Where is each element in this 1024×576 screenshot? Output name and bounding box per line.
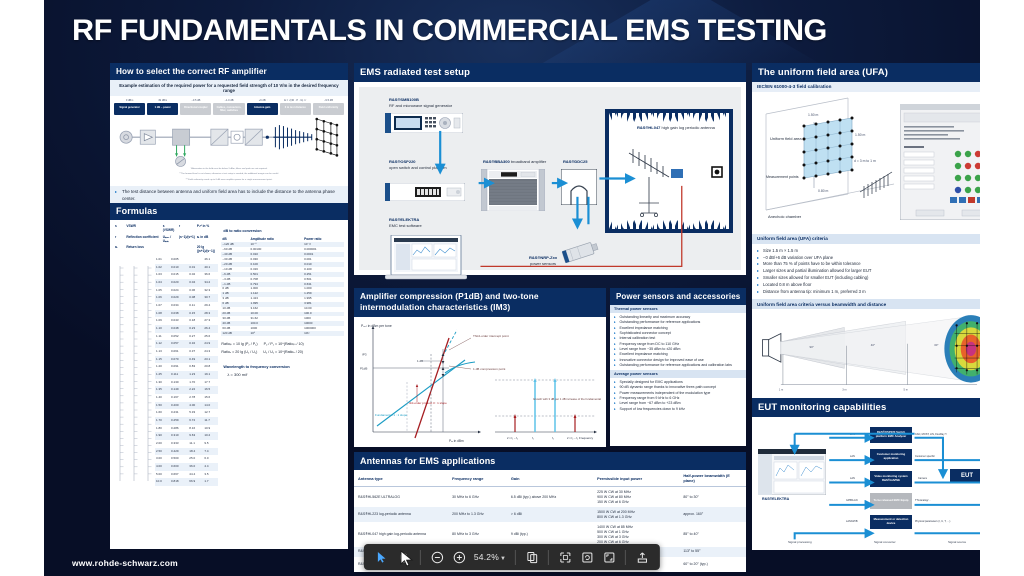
table-cell: 0.32	[188, 340, 203, 348]
table-cell: 2.00	[155, 440, 170, 448]
table-cell: 0.052	[170, 333, 188, 341]
table-cell: 0.015	[170, 272, 188, 280]
beam-distance: 1 m	[779, 388, 784, 392]
table-row: 1.090.0430.1827.3	[155, 317, 218, 325]
chain-value: 49 dBm	[147, 99, 178, 102]
chain-tag: Directional coupler	[180, 103, 211, 115]
col-formula: (s−1)/(s+1)	[178, 234, 196, 244]
table-cell: 0.130	[170, 379, 188, 387]
beam-distance: 5 m	[904, 388, 909, 392]
table-cell: 19.1	[203, 371, 218, 379]
table-row: 1.010.00546.1	[155, 256, 218, 264]
table-cell: 0.08	[188, 294, 203, 302]
table-cell: 0.091	[170, 363, 188, 371]
legend-symbol: aᵣ	[114, 244, 125, 254]
panel-ufa: The uniform field area (UFA) IEC/EN 6100…	[752, 63, 980, 390]
table-cell: 0.11	[188, 302, 203, 310]
table-cell	[188, 256, 203, 264]
table-cell: 1.7	[203, 478, 218, 486]
table-cell: 1.15	[155, 356, 170, 364]
freq-tick: 2 × f₁ − f₂	[507, 436, 518, 440]
table-cell: 9.63	[188, 432, 203, 440]
table-header-row: Antenna typeFrequency rangeGainPermissib…	[354, 470, 746, 487]
table-cell: 120 dB	[221, 331, 249, 336]
freq-tick: f₂	[552, 436, 554, 440]
eut-diagram: R&S®ELEKTRA R&S®OSP220 Switch platform E…	[752, 417, 980, 550]
table-cell: 6.5 dBi (typ.) above 200 MHz	[507, 487, 593, 507]
table-row: 1.250.1111.2319.1	[155, 371, 218, 379]
chart-label-p1db: 1 dB compression point	[473, 367, 505, 371]
ems-canvas: R&S®SMB100B RF and microwave signal gene…	[354, 82, 746, 275]
table-cell: 3.5	[203, 471, 218, 479]
table-cell: 36.6	[203, 272, 218, 280]
table-cell: 1.07	[155, 302, 170, 310]
col-formula: 20 lg ((s+1)/(s−1))	[196, 244, 219, 254]
footer-url[interactable]: www.rohde-schwarz.com	[72, 558, 178, 568]
list-item: Larger sizes and partial illumination al…	[757, 268, 980, 275]
table-cell: 1.04	[155, 279, 170, 287]
table-row: 10.00.81866.91.7	[155, 478, 218, 486]
ufa-dim: 1.50 m	[855, 133, 866, 137]
table-cell: 1.90	[155, 432, 170, 440]
ufa-subtitle: IEC/EN 61000-4-3 field calibration	[752, 82, 980, 92]
zoom-in-button[interactable]	[449, 547, 469, 567]
table-cell: 0.333	[170, 440, 188, 448]
table-cell: 80° to 30°	[679, 487, 746, 507]
table-cell: R&S®HL223 log-periodic antenna	[354, 507, 448, 522]
table-cell: 23.1	[203, 356, 218, 364]
col-formula: Uₘₐₓ / Uₘᵢₙ	[162, 234, 178, 244]
chain-value: −0.5 dB	[180, 99, 211, 102]
col-header: s (VSWR)	[162, 223, 178, 233]
eut-flow-arrows	[752, 417, 980, 550]
table-cell: 1.80	[155, 425, 170, 433]
beam-angle: 40°	[871, 343, 875, 347]
formulas-body: s VSWR s (VSWR) r Pᵣᵉᶠ in % r Reflection…	[110, 220, 348, 549]
table-cell: 5.00	[155, 471, 170, 479]
column-header: Antenna type	[354, 470, 448, 487]
select-tool-button[interactable]	[372, 547, 392, 567]
table-cell: approx. 160°	[679, 507, 746, 522]
table-cell: 10⁶	[249, 331, 303, 336]
table-cell: 200 MHz to 1.3 GHz	[448, 507, 507, 522]
table-row: 1.100.0480.2326.4	[155, 325, 218, 333]
table-cell: 3.00	[155, 455, 170, 463]
table-cell: 11.7	[203, 417, 218, 425]
compression-chart-svg: Pₒᵤₜ in dBm per tone IP3 P1dB	[357, 320, 603, 444]
viewer-gutter-left	[0, 0, 44, 576]
chevron-down-icon: ▼	[500, 556, 506, 562]
table-cell: 1.70	[155, 417, 170, 425]
table-row: 1.120.0570.3224.9	[155, 340, 218, 348]
table-row: 4.000.60036.04.4	[155, 463, 218, 471]
table-cell: 1.02	[155, 264, 170, 272]
panel-title-ufa: The uniform field area (UFA)	[752, 63, 980, 82]
chain-tag: 3 m test distance	[280, 103, 311, 115]
table-cell: 1.12	[155, 340, 170, 348]
chain-value: 0 dBm	[114, 99, 145, 102]
chart-label-growth: Growth with 3 dB per 1 dB increase of th…	[533, 397, 601, 401]
table-cell: 17.7	[203, 379, 218, 387]
amplifier-note: Example estimation of the required power…	[110, 80, 348, 96]
rotate-icon	[581, 551, 594, 564]
chain-tag: Field uniformity	[313, 103, 344, 115]
chain-tag: Signal generator	[114, 103, 145, 115]
ufa-beamwidth-diagram: 1 m 3 m 5 m 90° 40° 30°	[752, 309, 980, 403]
table-cell: 4.4	[203, 463, 218, 471]
panel-formulas: Formulas s VSWR s (VSWR) r Pᵣᵉᶠ in % r	[110, 203, 348, 548]
table-cell: 0.057	[170, 340, 188, 348]
table-row: 1.020.0100.0140.1	[155, 264, 218, 272]
chart-label-1db: 1 dB	[417, 359, 423, 363]
toolbar-divider	[420, 550, 421, 565]
table-cell: 1.30	[155, 379, 170, 387]
table-cell: 60° to 20° (typ.)	[679, 557, 746, 572]
panel-title-antennas: Antennas for EMS applications	[354, 452, 746, 470]
chart-x-axis-label: Pᵢₙ in dBm	[449, 439, 464, 443]
table-cell: 10.9	[203, 425, 218, 433]
table-cell: 0.49	[188, 356, 203, 364]
wavelength-formula: λ = 300 m/f	[227, 372, 344, 377]
zoom-level-value: 54.2%	[474, 552, 499, 562]
ufa-criteria-body: Size 1.5 m × 1.5 m−0 dB/+6 dB variation …	[752, 244, 980, 300]
subhead-thermal: Thermal power sensors	[610, 305, 746, 313]
db-table-title: dB to ratio conversion	[223, 229, 344, 233]
table-cell: 0.061	[170, 348, 188, 356]
panel-title-amplifier: How to select the correct RF amplifier	[110, 63, 348, 80]
table-cell: 10.0	[155, 478, 170, 486]
table-cell: 25.6	[203, 333, 218, 341]
table-cell: 0.070	[170, 356, 188, 364]
chain-tag-row: Signal generator 1 dB – power Directiona…	[114, 103, 344, 115]
ufa-dim: d = 3 m to 1 m	[854, 159, 876, 163]
table-cell: 1.06	[155, 294, 170, 302]
table-cell: 0.167	[170, 394, 188, 402]
vswr-column: s VSWR s (VSWR) r Pᵣᵉᶠ in % r Reflection…	[114, 223, 218, 546]
legend-symbol: r	[114, 234, 125, 244]
print-button[interactable]	[632, 547, 652, 567]
db-conversion-table: dBAmplitude ratioPower ratio−120 dB10⁻⁶1…	[221, 236, 344, 336]
table-cell: 8.16	[188, 425, 203, 433]
table-row: 5.000.66744.43.5	[155, 471, 218, 479]
hand-icon	[398, 551, 410, 563]
beam-distance: 3 m	[842, 388, 847, 392]
ufa-label: Anechoic chamber	[768, 214, 802, 219]
panel-eut-monitoring: EUT monitoring capabilities R&S®ELEKTRA …	[752, 398, 980, 548]
table-row: 1.150.0700.4923.1	[155, 356, 218, 364]
toolbar-divider	[548, 550, 549, 565]
vswr-legend-table: s VSWR s (VSWR) r Pᵣᵉᶠ in % r Reflection…	[114, 223, 218, 254]
table-cell: 0.005	[170, 256, 188, 264]
table-cell: 0.01	[188, 264, 203, 272]
table-cell: 11.1	[188, 440, 203, 448]
toolbar-divider	[515, 550, 516, 565]
spacer	[162, 244, 178, 254]
table-cell: 10.2	[203, 432, 218, 440]
table-cell: 0.27	[188, 333, 203, 341]
table-row: 1.500.2004.0014.0	[155, 402, 218, 410]
amplifier-chain-diagram: 0 dBm 49 dBm −0.5 dB −1.0 dB +6 dB E = √…	[110, 96, 348, 186]
table-row: 1.900.3109.6310.2	[155, 432, 218, 440]
table-cell: 6.72	[188, 417, 203, 425]
table-row: 1.800.2868.1610.9	[155, 425, 218, 433]
list-item: The test distance between antenna and un…	[115, 189, 343, 203]
table-cell: 1.60	[155, 409, 170, 417]
ufa-diagram: Uniform field area Measurement points An…	[752, 92, 980, 234]
chart-label-3rd-order: 3rd-order product 3 : 1 slope	[409, 401, 447, 405]
chain-value: +6 dB	[247, 99, 278, 102]
table-cell: 1.11	[155, 333, 170, 341]
page-title: RF FUNDAMENTALS IN COMMERCIAL EMS TESTIN…	[72, 14, 827, 48]
table-row: 2.500.42918.47.4	[155, 448, 218, 456]
table-cell: 0.010	[170, 264, 188, 272]
ratio-formula: P₂ / P₁ = 10^(Ratioₚᵢ / 10)	[264, 341, 304, 349]
pdf-viewer: RF FUNDAMENTALS IN COMMERCIAL EMS TESTIN…	[0, 0, 1024, 576]
table-cell: 0.02	[188, 272, 203, 280]
list-item: Outstanding performance for reference ap…	[614, 363, 742, 368]
chain-value: −9.5 dB	[313, 99, 344, 102]
table-cell: 2.22	[188, 386, 203, 394]
table-cell: 28.3	[203, 310, 218, 318]
poster-page[interactable]: RF FUNDAMENTALS IN COMMERCIAL EMS TESTIN…	[44, 0, 980, 576]
table-cell: 24.3	[203, 348, 218, 356]
expand-icon	[603, 551, 616, 564]
table-cell: 12.7	[203, 409, 218, 417]
chart-x-axis-label-2: Frequency	[579, 436, 594, 440]
table-cell: 15.6	[203, 394, 218, 402]
ufa-3d-sketch: Uniform field area Measurement points An…	[752, 92, 902, 234]
table-cell: 0.06	[188, 287, 203, 295]
table-cell: 1500 W CW at 200 MHz800 W CW at 1.3 GHz	[593, 507, 679, 522]
zoom-out-button[interactable]	[427, 547, 447, 567]
table-cell: 25.0	[188, 455, 203, 463]
table-cell: 0.667	[170, 471, 188, 479]
table-cell: 1.09	[155, 317, 170, 325]
table-cell: 1.01	[155, 256, 170, 264]
table-cell: 85° to 40°	[679, 522, 746, 547]
table-cell: 0.024	[170, 287, 188, 295]
fit-page-button[interactable]	[555, 547, 575, 567]
table-cell: 1.08	[155, 310, 170, 318]
table-cell: 2.78	[188, 394, 203, 402]
table-row: 1.040.0200.0434.2	[155, 279, 218, 287]
average-sensor-list-body: Specially designed for EMC applications9…	[610, 378, 746, 414]
table-cell: 66.9	[188, 478, 203, 486]
column-header: Gain	[507, 470, 593, 487]
panel-ems-setup: EMS radiated test setup R&S®SMB100B RF a…	[354, 63, 746, 273]
panel-title-ems: EMS radiated test setup	[354, 63, 746, 82]
ems-diagram: R&S®SMB100B RF and microwave signal gene…	[359, 87, 741, 270]
panel-antennas: Antennas for EMS applications Antenna ty…	[354, 452, 746, 548]
table-cell: 6.0	[203, 455, 218, 463]
table-cell: 0.500	[170, 455, 188, 463]
table-cell: 1.10	[155, 325, 170, 333]
chart-label-fundamental: Fundamental 1 : 1 slope	[375, 413, 408, 417]
table-cell: 0.200	[170, 402, 188, 410]
beamwidth-svg: 1 m 3 m 5 m 90° 40° 30°	[752, 309, 980, 403]
zoom-level-display[interactable]: 54.2%▼	[471, 552, 509, 562]
average-sensor-list: Specially designed for EMC applications9…	[614, 380, 742, 412]
table-cell: 4.00	[188, 402, 203, 410]
panel-title-power-sensors: Power sensors and accessories	[610, 288, 746, 305]
db-conversion-column: dB to ratio conversion dBAmplitude ratio…	[221, 223, 344, 546]
column-header: Half-power beamwidth (E plane)	[679, 470, 746, 487]
table-cell: 14.0	[203, 402, 218, 410]
ufa-dim: 1.50 m	[808, 113, 819, 117]
table-cell: 0.149	[170, 386, 188, 394]
ufa-beam-title: Uniform field area criteria versus beamw…	[752, 299, 980, 309]
table-cell: > 6 dBi	[507, 507, 593, 522]
table-row: 2.000.33311.19.5	[155, 440, 218, 448]
ufa-criteria-list: Size 1.5 m × 1.5 m−0 dB/+6 dB variation …	[757, 248, 980, 296]
table-row: 1.060.0290.0830.7	[155, 294, 218, 302]
cursor-icon	[376, 551, 388, 563]
list-item: Located 0.8 m above floor	[757, 282, 980, 289]
panel-title-eut: EUT monitoring capabilities	[752, 398, 980, 417]
table-cell: 46.1	[203, 256, 218, 264]
col-header: Pᵣᵉᶠ in %	[196, 223, 219, 233]
vswr-nomograph-and-table: 1.010.00546.11.020.0100.0140.11.030.0150…	[114, 256, 218, 486]
table-cell: 0.038	[170, 310, 188, 318]
legend-desc: VSWR	[125, 223, 161, 233]
print-icon	[636, 551, 649, 564]
rotate-button[interactable]	[577, 547, 597, 567]
table-row: 1.600.2315.3312.7	[155, 409, 218, 417]
table-cell: 0.429	[170, 448, 188, 456]
wavelength-title: Wavelength to frequency conversion	[223, 365, 344, 369]
table-cell: 29.4	[203, 302, 218, 310]
list-item: −0 dB/+6 dB variation over UFA plane	[757, 255, 980, 262]
panel-power-sensors: Power sensors and accessories Thermal po…	[610, 288, 746, 446]
table-cell: 0.83	[188, 363, 203, 371]
chain-value: −1.0 dB	[213, 99, 244, 102]
vswr-nomograph	[114, 256, 154, 486]
table-cell: 1.25	[155, 371, 170, 379]
table-cell: 30.7	[203, 294, 218, 302]
ufa-label: Measurement points	[766, 175, 799, 179]
viewer-gutter-right	[980, 0, 1024, 576]
chart-y-axis-label: Pₒᵤₜ in dBm per tone	[361, 324, 392, 328]
page-view-button[interactable]	[522, 547, 542, 567]
table-cell: 0.04	[188, 279, 203, 287]
list-item: Support of low frequencies down to 9 kHz	[614, 407, 742, 412]
beam-angle: 90°	[810, 345, 814, 349]
list-item: Smaller sizes allowed for smaller EUT (i…	[757, 275, 980, 282]
chart-tick-ip3: IP3	[362, 352, 367, 356]
pdf-toolbar[interactable]: 54.2%▼	[364, 544, 660, 570]
compression-chart: Pₒᵤₜ in dBm per tone IP3 P1dB	[354, 317, 606, 447]
chain-value-row: 0 dBm 49 dBm −0.5 dB −1.0 dB +6 dB E = √…	[114, 99, 344, 102]
table-cell: 36.0	[188, 463, 203, 471]
table-row: R&S®HL223 log-periodic antenna200 MHz to…	[354, 507, 746, 522]
table-row: 1.350.1492.2216.5	[155, 386, 218, 394]
legend-desc: Return loss	[125, 244, 161, 254]
ufa-label: Uniform field area	[770, 136, 802, 141]
ratio-formula: Ratioₚᵢ = 10 lg (P₂ / P₁)	[221, 341, 257, 349]
panel-title-compression: Amplifier compression (P1dB) and two-ton…	[354, 288, 606, 317]
table-cell: 0.259	[170, 417, 188, 425]
table-row: 1.700.2596.7211.7	[155, 417, 218, 425]
list-item: Size 1.5 m × 1.5 m	[757, 248, 980, 255]
table-cell: 1.23	[188, 371, 203, 379]
table-cell: 26.4	[203, 325, 218, 333]
hand-tool-button[interactable]	[394, 547, 414, 567]
freq-tick: f₁	[532, 436, 534, 440]
panel-compression-chart: Amplifier compression (P1dB) and two-ton…	[354, 288, 606, 446]
table-row: 1.110.0520.2725.6	[155, 333, 218, 341]
table-cell: 9.5	[203, 440, 218, 448]
chart-label-ip3: Third-order intercept point	[473, 334, 509, 338]
table-cell: 1.70	[188, 379, 203, 387]
table-cell: 0.111	[170, 371, 188, 379]
spacer	[178, 244, 196, 254]
toolbar-divider	[625, 550, 626, 565]
table-cell: 0.37	[188, 348, 203, 356]
fullscreen-button[interactable]	[599, 547, 619, 567]
table-cell: 20.8	[203, 363, 218, 371]
table-row: 3.000.50025.06.0	[155, 455, 218, 463]
panel-amplifier-selection: How to select the correct RF amplifier E…	[110, 63, 348, 221]
table-cell: 24.9	[203, 340, 218, 348]
table-cell: 0.020	[170, 279, 188, 287]
elektra-calibration-screenshot	[900, 104, 980, 220]
table-cell: 1.05	[155, 287, 170, 295]
table-cell: 10¹²	[303, 331, 344, 336]
column-header: Frequency range	[448, 470, 507, 487]
signal-chain-svg	[114, 115, 344, 167]
thermal-sensor-list: Outstanding linearity and maximum accura…	[614, 315, 742, 368]
table-cell: 0.048	[170, 325, 188, 333]
beam-angle: 30°	[934, 343, 938, 347]
panel-title-formulas: Formulas	[110, 203, 348, 220]
list-item: More than 75 % of points have to be with…	[757, 261, 980, 268]
table-row: 1.130.0610.3724.3	[155, 348, 218, 356]
chain-tag: Cables, connectors, filter, switches	[213, 103, 244, 115]
chain-tag: 1 dB – power	[147, 103, 178, 115]
legend-desc: Reflection coefficient	[125, 234, 161, 244]
legend-symbol: s	[114, 223, 125, 233]
plus-circle-icon	[452, 551, 465, 564]
table-cell: 0.034	[170, 302, 188, 310]
table-cell: 0.18	[188, 317, 203, 325]
table-cell: 1.13	[155, 348, 170, 356]
chain-footnote: ***Field uniformity needs up to 6 dB mor…	[114, 179, 344, 184]
table-cell: 44.4	[188, 471, 203, 479]
ufa-criteria-title: Uniform field area (UFA) criteria	[752, 234, 980, 244]
table-cell: 0.15	[188, 310, 203, 318]
table-cell: 0.286	[170, 425, 188, 433]
table-row: R&S®HL562E ULTRALOG30 MHz to 6 GHz6.5 dB…	[354, 487, 746, 507]
table-cell: 0.029	[170, 294, 188, 302]
table-cell: 1.03	[155, 272, 170, 280]
table-row: 1.400.1672.7815.6	[155, 394, 218, 402]
minus-circle-icon	[430, 551, 443, 564]
ems-connection-arrows	[359, 87, 741, 270]
table-row: 1.050.0240.0632.3	[155, 287, 218, 295]
col-header: aᵣ in dB	[196, 234, 219, 244]
table-cell: 1.40	[155, 394, 170, 402]
ratio-formula-box: Ratioₚᵢ = 10 lg (P₂ / P₁) P₂ / P₁ = 10^(…	[221, 341, 344, 357]
table-row: 1.200.0910.8320.8	[155, 363, 218, 371]
list-item: Distance from antenna tip: minimum 1 m, …	[757, 289, 980, 296]
table-cell: 30 MHz to 6 GHz	[448, 487, 507, 507]
ratio-formula: Ratioᵤ = 20 lg (U₂ / U₁)	[221, 349, 257, 357]
ufa-dim: 0.80 m	[818, 189, 829, 193]
table-cell: 16.5	[203, 386, 218, 394]
table-cell: 0.600	[170, 463, 188, 471]
table-cell: 225 W CW at 30 MHz900 W CW at 80 MHz150 …	[593, 487, 679, 507]
table-cell: 2.50	[155, 448, 170, 456]
